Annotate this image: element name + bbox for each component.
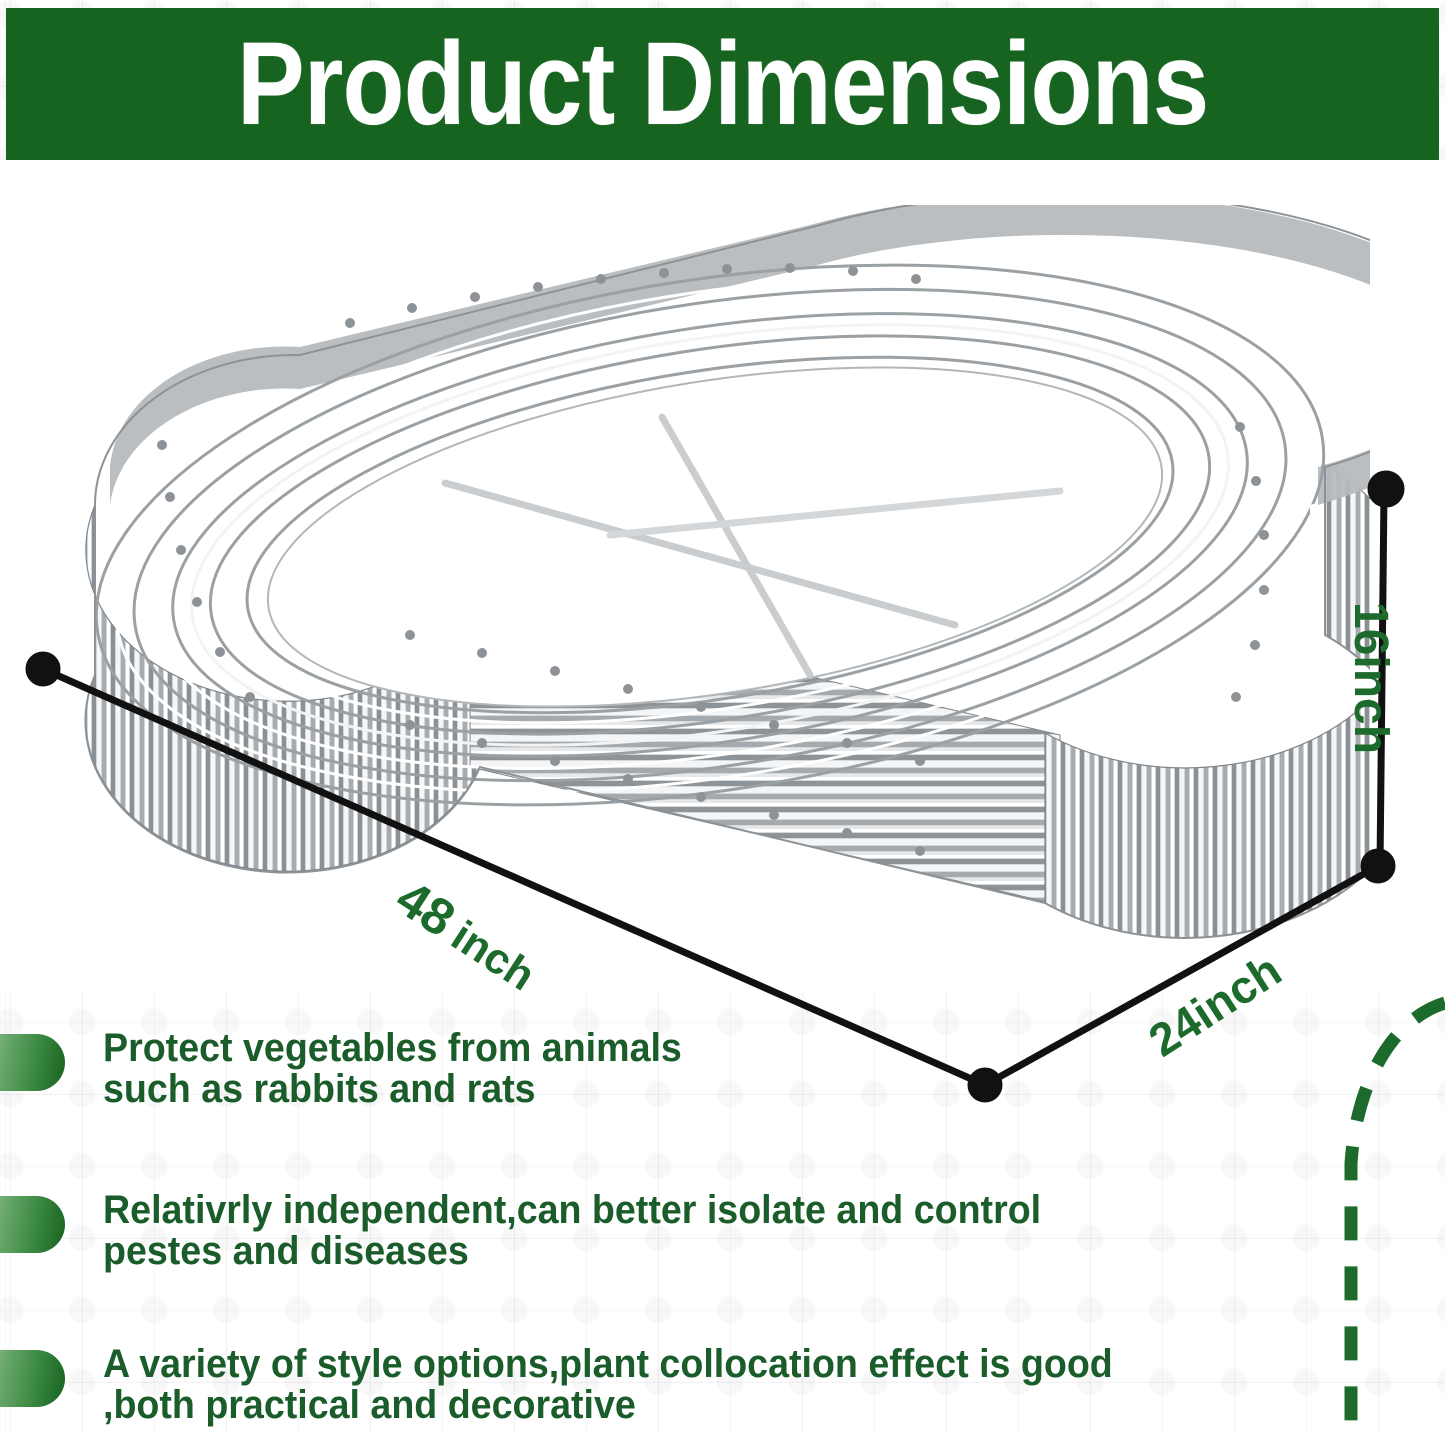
- feature-item: Relativrly independent,can better isolat…: [0, 1190, 1103, 1272]
- product-image: [50, 205, 1370, 1025]
- feature-text: Protect vegetables from animals such as …: [103, 1028, 780, 1110]
- bullet-pill-icon: [0, 1034, 65, 1091]
- bullet-pill-icon: [0, 1196, 65, 1253]
- header-banner: Product Dimensions: [6, 8, 1439, 160]
- feature-item: A variety of style options,plant colloca…: [0, 1344, 1283, 1426]
- bullet-pill-icon: [0, 1350, 65, 1407]
- product-dimensions-infographic: Product Dimensions: [0, 0, 1445, 1433]
- feature-item: Protect vegetables from animals such as …: [0, 1028, 823, 1110]
- feature-text: Relativrly independent,can better isolat…: [103, 1190, 1043, 1272]
- dimension-endpoint-top: [1371, 474, 1401, 504]
- dimension-label-height: 16inch: [1343, 602, 1398, 754]
- feature-text: A variety of style options,plant colloca…: [103, 1344, 1212, 1426]
- page-title: Product Dimensions: [237, 25, 1208, 143]
- decorative-dashed-arc: [1325, 993, 1445, 1433]
- dimension-vertex-bottom: [971, 1071, 999, 1099]
